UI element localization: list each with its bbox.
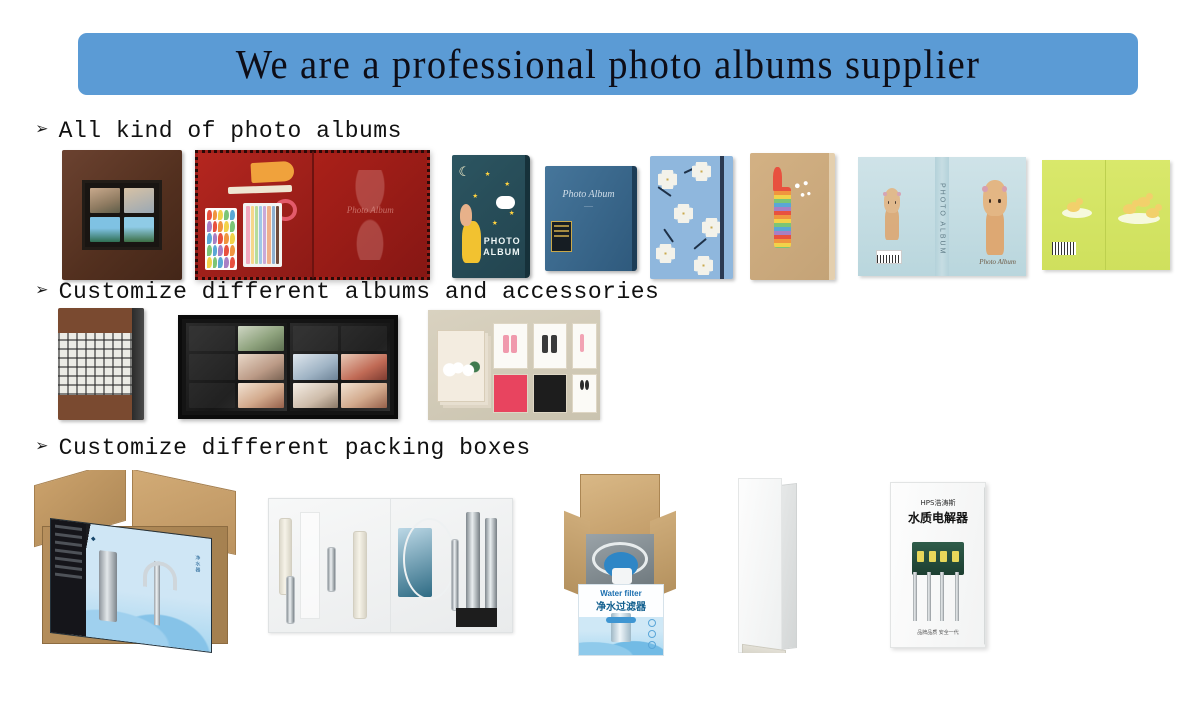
- header-banner: We are a professional photo albums suppl…: [78, 33, 1138, 95]
- photo-window-frame: [82, 180, 162, 250]
- faucet-stem: [451, 539, 458, 611]
- section-heading-label: All kind of photo albums: [59, 118, 402, 144]
- sticker-sheet: [205, 208, 237, 270]
- album-left-page: [186, 323, 287, 411]
- album-left-page: [1042, 160, 1106, 270]
- photo-thumb: [238, 326, 284, 351]
- photo-pocket: [189, 326, 235, 351]
- photo-thumb: [238, 354, 284, 379]
- star-icon: ★: [485, 170, 490, 179]
- sparkle-icon: [791, 178, 812, 203]
- product-blue-landscape-album[interactable]: Photo Album ———: [545, 166, 637, 271]
- flower-icon: [656, 244, 675, 263]
- product-filter-parts-tray[interactable]: [268, 498, 513, 633]
- box-side-panel: [984, 486, 986, 644]
- product-accessories-display[interactable]: [428, 310, 600, 420]
- arrow-bullet-icon: ➢: [36, 121, 49, 142]
- album-cover-subtext: ———: [584, 204, 593, 210]
- giraffe-illustration-small: [878, 183, 906, 240]
- box-product-title: 水质电解器: [908, 509, 968, 526]
- giraffe-ear: [982, 186, 987, 192]
- photo-thumb: [124, 188, 154, 213]
- product-black-pocket-album[interactable]: [178, 315, 398, 419]
- giraffe-body: [986, 209, 1005, 254]
- album-left-page: [195, 150, 313, 280]
- giraffe-ear: [897, 192, 901, 196]
- photo-pocket: [341, 326, 387, 351]
- sticker-card: [493, 323, 527, 369]
- pen-icon: [227, 185, 291, 195]
- flower-icon: [658, 170, 677, 189]
- metal-cartridge: [286, 576, 296, 624]
- duck-icon: [1123, 204, 1136, 214]
- gold-label-plate: [551, 221, 572, 253]
- star-icon: ★: [505, 180, 510, 189]
- product-catalog-page: We are a professional photo albums suppl…: [0, 0, 1200, 726]
- photo-thumb: [90, 217, 120, 242]
- electrode-probes: [910, 572, 966, 621]
- tray-compartment: [300, 512, 319, 618]
- star-icon: ★: [492, 219, 497, 228]
- giraffe-head: [884, 188, 901, 213]
- sticker-card: [572, 323, 596, 369]
- leaf-icon: [663, 228, 674, 242]
- flower-icon: [702, 218, 721, 237]
- white-filter-part: [612, 568, 632, 584]
- flower-icon: [674, 204, 693, 223]
- tray-right-section: [391, 499, 513, 632]
- product-plaid-fabric-album[interactable]: [58, 308, 144, 420]
- electrolyzer-device-graphic: [912, 542, 965, 575]
- box-side-panel: [780, 483, 797, 650]
- faucet-base: [456, 608, 497, 627]
- black-ink-pad: [533, 374, 567, 414]
- photo-thumb: [293, 383, 339, 408]
- chrome-faucet: [485, 518, 497, 614]
- arrow-bullet-icon: ➢: [36, 438, 49, 459]
- product-photo-graphic: [611, 613, 631, 642]
- photo-thumb: [124, 217, 154, 242]
- giraffe-ear: [883, 192, 887, 196]
- box-front-panel: [738, 478, 782, 653]
- album-right-cover: Photo Album: [313, 150, 431, 280]
- giraffe-head: [983, 180, 1006, 216]
- arrow-bullet-icon: ➢: [36, 282, 49, 303]
- album-cover-script: Photo Album: [979, 258, 1016, 266]
- sticker-card: [533, 323, 567, 369]
- giraffe-eye: [998, 199, 1000, 203]
- section-heading-label: Customize different albums and accessori…: [59, 279, 660, 305]
- product-brown-leather-album[interactable]: [62, 150, 182, 280]
- section-heading-packing-boxes: ➢ Customize different packing boxes: [36, 435, 531, 461]
- duck-icon: [1146, 208, 1159, 218]
- album-spine-label: PHOTO ALBUM: [939, 183, 946, 255]
- box-front-panel: Water filter 净水过滤器: [578, 584, 664, 656]
- photo-thumb: [341, 354, 387, 379]
- faucet-graphic: [141, 560, 176, 628]
- tray-left-section: [269, 499, 391, 632]
- box-english-label: Water filter: [600, 589, 642, 598]
- barcode-label: [876, 250, 902, 264]
- product-giraffe-album-spread[interactable]: Photo Album PHOTO ALBUM: [858, 157, 1026, 276]
- photo-thumb: [293, 354, 339, 379]
- star-icon: ★: [509, 209, 514, 218]
- cloud-icon: [496, 196, 515, 210]
- duck-icon: [1137, 197, 1150, 207]
- product-floral-album[interactable]: [650, 156, 733, 279]
- scissors-icon: [251, 161, 295, 183]
- elastic-band: [720, 156, 724, 279]
- star-icon: ★: [472, 192, 477, 201]
- box-footer-text: 品牌品质 安全一代: [917, 629, 959, 636]
- chrome-faucet: [466, 512, 481, 613]
- box-chinese-label: 净水过滤器: [596, 598, 646, 613]
- leaf-icon: [693, 238, 707, 250]
- product-open-kraft-carton[interactable]: ◆ 净水器: [28, 470, 246, 660]
- snowman-illustration: [441, 353, 480, 377]
- product-kraft-giraffe-album[interactable]: [750, 153, 835, 280]
- banner-title: We are a professional photo albums suppl…: [236, 40, 981, 88]
- filter-cartridge-graphic: [99, 550, 117, 622]
- album-right-page: [1106, 160, 1170, 270]
- metal-cartridge: [327, 547, 337, 592]
- duck-icon: [1067, 202, 1080, 212]
- box-side-panel: [51, 519, 86, 636]
- product-plain-white-box[interactable]: [738, 478, 798, 653]
- giraffe-ear: [1002, 186, 1007, 192]
- giraffe-eye: [888, 201, 890, 204]
- section-heading-customize-albums: ➢ Customize different albums and accesso…: [36, 279, 659, 305]
- photo-pocket: [293, 326, 339, 351]
- album-cover-label: Photo Album: [347, 205, 394, 215]
- water-tubing: [403, 518, 456, 600]
- giraffe-illustration-large: [976, 174, 1015, 255]
- moon-icon: ☾: [459, 165, 467, 180]
- white-ink-pad: [572, 374, 596, 414]
- giraffe-eye: [989, 199, 991, 203]
- flower-icon: [692, 162, 711, 181]
- album-front-cover: Photo Album: [942, 157, 1026, 276]
- product-electrolyzer-box[interactable]: HPS浩涛斯 水质电解器 品牌品质 安全一代: [890, 482, 986, 648]
- album-cover-script: Photo Album: [562, 189, 614, 200]
- album-cover-label: PHOTO ALBUM: [452, 236, 521, 258]
- section-heading-label: Customize different packing boxes: [59, 435, 531, 461]
- box-brand-label: HPS浩涛斯: [921, 498, 956, 508]
- album-spine: PHOTO ALBUM: [935, 157, 949, 276]
- brand-logo: ◆: [91, 535, 96, 543]
- photo-thumb: [238, 383, 284, 408]
- filter-cartridge: [353, 531, 366, 619]
- product-red-scrapbook-album[interactable]: Photo Album: [195, 150, 430, 280]
- pink-ink-pad: [493, 374, 527, 414]
- album-spine: [132, 308, 144, 420]
- album-back-cover: [858, 157, 942, 276]
- product-green-duck-album[interactable]: [1042, 160, 1170, 270]
- paper-strips: [243, 203, 282, 267]
- giraffe-body: [885, 208, 899, 240]
- feature-icons: [648, 616, 658, 652]
- rainbow-giraffe-illustration: [774, 187, 791, 248]
- giraffe-eye: [895, 201, 897, 204]
- section-heading-albums: ➢ All kind of photo albums: [36, 118, 402, 144]
- photo-thumb: [90, 188, 120, 213]
- flower-icon: [694, 256, 713, 275]
- product-teal-deer-album[interactable]: ☾ ★ ★ ★ ★ ★ PHOTO ALBUM: [452, 155, 530, 278]
- box-chinese-text: 净水器: [194, 555, 201, 574]
- inner-printed-box: ◆ 净水器: [50, 518, 212, 653]
- product-open-water-filter-box[interactable]: Water filter 净水过滤器: [560, 470, 680, 660]
- photo-pocket: [189, 383, 235, 408]
- photo-thumb: [341, 383, 387, 408]
- box-contents: [586, 534, 654, 590]
- photo-pocket: [189, 354, 235, 379]
- album-right-page: [290, 323, 391, 411]
- card-set-stack: [437, 330, 485, 403]
- barcode-label: [1052, 242, 1076, 255]
